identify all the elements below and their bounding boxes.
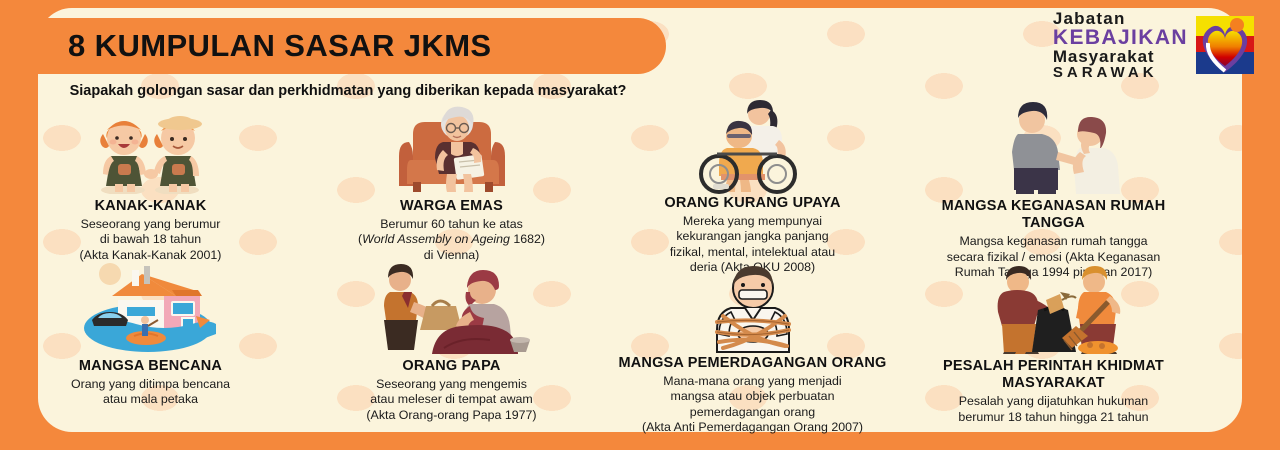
- title-banner: 8 KUMPULAN SASAR JKMS: [0, 18, 666, 74]
- group-row-2: MANGSA BENCANA Orang yang ditimpa bencan…: [0, 258, 1204, 436]
- wheelchair-user-icon: [693, 98, 813, 194]
- logo-wordmark: Jabatan KEBAJIKAN Masyarakat SARAWAK: [1053, 10, 1188, 80]
- domestic-violence-icon: [984, 98, 1124, 194]
- elderly-woman-armchair-icon: [393, 98, 511, 194]
- flooded-house-icon: [76, 258, 226, 354]
- group-title: MANGSA BENCANA: [79, 358, 222, 375]
- group-description: Mana-mana orang yang menjadi mangsa atau…: [642, 374, 863, 436]
- group-card-mangsa-keganasan-rumah-tangga: MANGSA KEGANASAN RUMAH TANGGA Mangsa keg…: [903, 98, 1204, 280]
- group-title: MANGSA PEMERDAGANGAN ORANG: [618, 355, 886, 372]
- group-description: Berumur 60 tahun ke atas (World Assembly…: [358, 217, 545, 263]
- group-card-pesalah-perintah-khidmat-masyarakat: PESALAH PERINTAH KHIDMAT MASYARAKAT Pesa…: [903, 258, 1204, 436]
- group-description: Seseorang yang mengemis atau meleser di …: [366, 377, 536, 423]
- subtitle-question: Siapakah golongan sasar dan perkhidmatan…: [38, 82, 658, 102]
- page-title: 8 KUMPULAN SASAR JKMS: [68, 28, 492, 64]
- heart-emblem-icon: [1192, 12, 1258, 78]
- group-title: PESALAH PERINTAH KHIDMAT MASYARAKAT: [911, 358, 1196, 392]
- group-row-1: KANAK-KANAK Seseorang yang berumur di ba…: [0, 98, 1204, 280]
- group-card-kanak-kanak: KANAK-KANAK Seseorang yang berumur di ba…: [0, 98, 301, 280]
- logo-line-sarawak: SARAWAK: [1053, 65, 1188, 80]
- two-children-icon: [87, 98, 215, 194]
- group-title: ORANG PAPA: [402, 358, 500, 375]
- logo-line-kebajikan: KEBAJIKAN: [1053, 27, 1188, 48]
- group-description: Pesalah yang dijatuhkan hukuman berumur …: [958, 394, 1148, 425]
- group-title: KANAK-KANAK: [95, 198, 207, 215]
- group-title: MANGSA KEGANASAN RUMAH TANGGA: [911, 198, 1196, 232]
- bound-person-icon: [687, 258, 819, 354]
- community-service-icon: [974, 258, 1134, 354]
- logo-line-masyarakat: Masyarakat: [1053, 48, 1188, 65]
- group-description: Orang yang ditimpa bencana atau mala pet…: [71, 377, 230, 408]
- group-card-mangsa-bencana: MANGSA BENCANA Orang yang ditimpa bencan…: [0, 258, 301, 436]
- group-title: WARGA EMAS: [400, 198, 503, 215]
- poster-root: 8 KUMPULAN SASAR JKMS Jabatan KEBAJIKAN …: [0, 0, 1280, 450]
- group-description: Seseorang yang berumur di bawah 18 tahun…: [80, 217, 222, 263]
- group-card-orang-kurang-upaya: ORANG KURANG UPAYA Mereka yang mempunyai…: [602, 98, 903, 280]
- group-card-warga-emas: WARGA EMAS Berumur 60 tahun ke atas (Wor…: [301, 98, 602, 280]
- homeless-person-icon: [370, 258, 534, 354]
- jkms-logo: Jabatan KEBAJIKAN Masyarakat SARAWAK: [1053, 10, 1258, 80]
- group-card-orang-papa: ORANG PAPA Seseorang yang mengemis atau …: [301, 258, 602, 436]
- group-title: ORANG KURANG UPAYA: [664, 195, 840, 212]
- logo-line-jabatan: Jabatan: [1053, 10, 1188, 27]
- group-card-mangsa-pemerdagangan-orang: MANGSA PEMERDAGANGAN ORANG Mana-mana ora…: [602, 258, 903, 436]
